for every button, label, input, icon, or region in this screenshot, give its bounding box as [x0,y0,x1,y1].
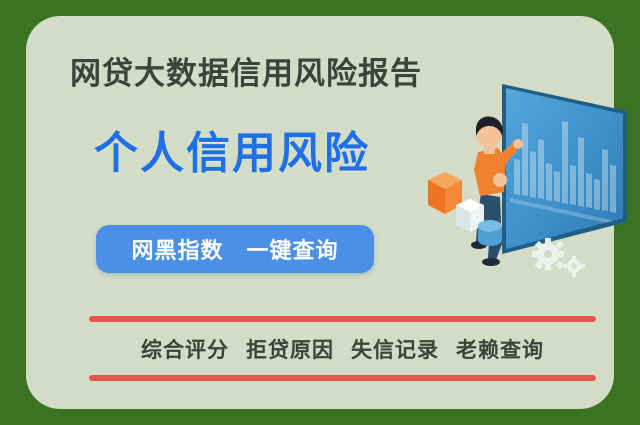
feature-list: 综合评分 拒贷原因 失信记录 老赖查询 [89,329,596,369]
isometric-illustration [418,74,640,289]
feature-item-record[interactable]: 失信记录 [351,334,439,364]
feature-item-score[interactable]: 综合评分 [141,334,229,364]
feature-item-reason[interactable]: 拒贷原因 [246,334,334,364]
query-button-label: 网黑指数 一键查询 [131,233,338,265]
feature-item-lookup[interactable]: 老赖查询 [456,334,544,364]
small-gear-icon [564,256,585,277]
credit-risk-banner: 网贷大数据信用风险报告 个人信用风险 网黑指数 一键查询 综合评分 拒贷原因 失… [0,0,640,425]
blue-cylinder-icon [478,220,502,246]
divider-bottom [89,375,596,381]
divider-top [89,316,596,322]
page-title: 网贷大数据信用风险报告 [70,58,422,89]
query-button[interactable]: 网黑指数 一键查询 [96,225,374,273]
bar-chart-screen-icon [502,84,627,254]
headline: 个人信用风险 [94,132,370,176]
banner-panel: 网贷大数据信用风险报告 个人信用风险 网黑指数 一键查询 综合评分 拒贷原因 失… [26,16,614,409]
